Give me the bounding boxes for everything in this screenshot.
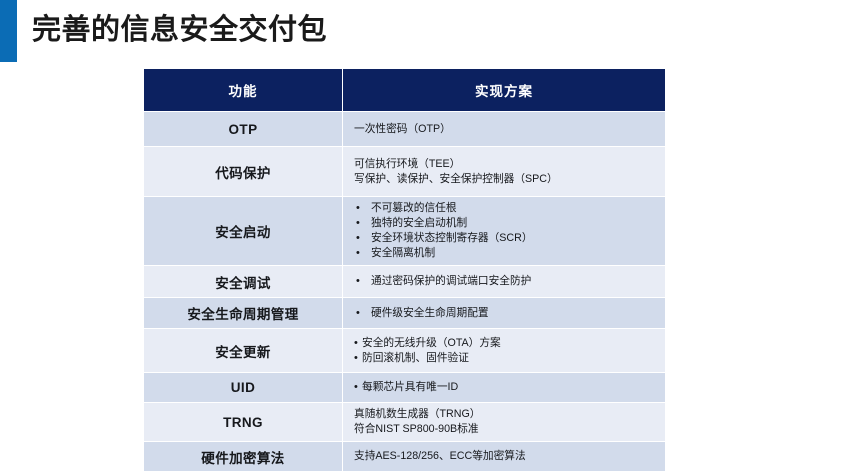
title-accent-bar [0, 0, 17, 62]
page-title: 完善的信息安全交付包 [32, 8, 327, 52]
table-row: 代码保护可信执行环境（TEE）写保护、读保护、安全保护控制器（SPC） [144, 147, 666, 197]
table-row: OTP一次性密码（OTP） [144, 112, 666, 147]
feature-name-cell: 代码保护 [144, 147, 343, 197]
implementation-text-line: 可信执行环境（TEE） [354, 157, 659, 172]
implementation-cell: 硬件级安全生命周期配置 [343, 298, 666, 329]
slide-canvas: 完善的信息安全交付包 功能 实现方案 OTP一次性密码（OTP）代码保护可信执行… [0, 0, 859, 457]
table-row: TRNG真随机数生成器（TRNG）符合NIST SP800-90B标准 [144, 403, 666, 442]
table-header: 功能 实现方案 [144, 69, 666, 112]
feature-name-cell: 安全调试 [144, 266, 343, 298]
implementation-bullet-list: 每颗芯片具有唯一ID [354, 380, 659, 395]
table-row: 安全调试 通过密码保护的调试端口安全防护 [144, 266, 666, 298]
feature-name-cell: UID [144, 373, 343, 403]
column-header-implementation: 实现方案 [343, 69, 666, 112]
table-row: 安全启动不可篡改的信任根 独特的安全启动机制安全环境状态控制寄存器（SCR）安全… [144, 197, 666, 266]
implementation-cell: 不可篡改的信任根 独特的安全启动机制安全环境状态控制寄存器（SCR）安全隔离机制 [343, 197, 666, 266]
table-body: OTP一次性密码（OTP）代码保护可信执行环境（TEE）写保护、读保护、安全保护… [144, 112, 666, 472]
feature-name-cell: 安全启动 [144, 197, 343, 266]
implementation-bullet-list: 硬件级安全生命周期配置 [354, 306, 659, 321]
implementation-bullet-list: 通过密码保护的调试端口安全防护 [354, 274, 659, 289]
implementation-bullet-item: 不可篡改的信任根 [354, 201, 659, 216]
table-header-row: 功能 实现方案 [144, 69, 666, 112]
implementation-bullet-item: 安全的无线升级（OTA）方案 [354, 336, 659, 351]
implementation-bullet-item: 防回滚机制、固件验证 [354, 351, 659, 366]
implementation-text-line: 一次性密码（OTP） [354, 122, 659, 137]
column-header-function: 功能 [144, 69, 343, 112]
implementation-text-line: 写保护、读保护、安全保护控制器（SPC） [354, 172, 659, 187]
table-row: 安全更新安全的无线升级（OTA）方案防回滚机制、固件验证 [144, 329, 666, 373]
feature-name-cell: 安全生命周期管理 [144, 298, 343, 329]
implementation-bullet-list: 不可篡改的信任根 独特的安全启动机制安全环境状态控制寄存器（SCR）安全隔离机制 [354, 201, 659, 261]
feature-name-cell: OTP [144, 112, 343, 147]
implementation-cell: 通过密码保护的调试端口安全防护 [343, 266, 666, 298]
implementation-bullet-list: 安全的无线升级（OTA）方案防回滚机制、固件验证 [354, 336, 659, 366]
feature-name-cell: 安全更新 [144, 329, 343, 373]
implementation-cell: 可信执行环境（TEE）写保护、读保护、安全保护控制器（SPC） [343, 147, 666, 197]
implementation-cell: 真随机数生成器（TRNG）符合NIST SP800-90B标准 [343, 403, 666, 442]
implementation-bullet-item: 通过密码保护的调试端口安全防护 [354, 274, 659, 289]
implementation-cell: 每颗芯片具有唯一ID [343, 373, 666, 403]
implementation-bullet-item: 安全环境状态控制寄存器（SCR） [354, 231, 659, 246]
table-row: UID每颗芯片具有唯一ID [144, 373, 666, 403]
implementation-text-line: 真随机数生成器（TRNG） [354, 407, 659, 422]
implementation-cell: 安全的无线升级（OTA）方案防回滚机制、固件验证 [343, 329, 666, 373]
implementation-bullet-item: 独特的安全启动机制 [354, 216, 659, 231]
implementation-text-line: 符合NIST SP800-90B标准 [354, 422, 659, 437]
table-row: 安全生命周期管理硬件级安全生命周期配置 [144, 298, 666, 329]
implementation-bullet-item: 硬件级安全生命周期配置 [354, 306, 659, 321]
security-feature-table: 功能 实现方案 OTP一次性密码（OTP）代码保护可信执行环境（TEE）写保护、… [143, 68, 666, 472]
implementation-cell: 一次性密码（OTP） [343, 112, 666, 147]
implementation-bullet-item: 安全隔离机制 [354, 246, 659, 261]
feature-name-cell: TRNG [144, 403, 343, 442]
implementation-bullet-item: 每颗芯片具有唯一ID [354, 380, 659, 395]
